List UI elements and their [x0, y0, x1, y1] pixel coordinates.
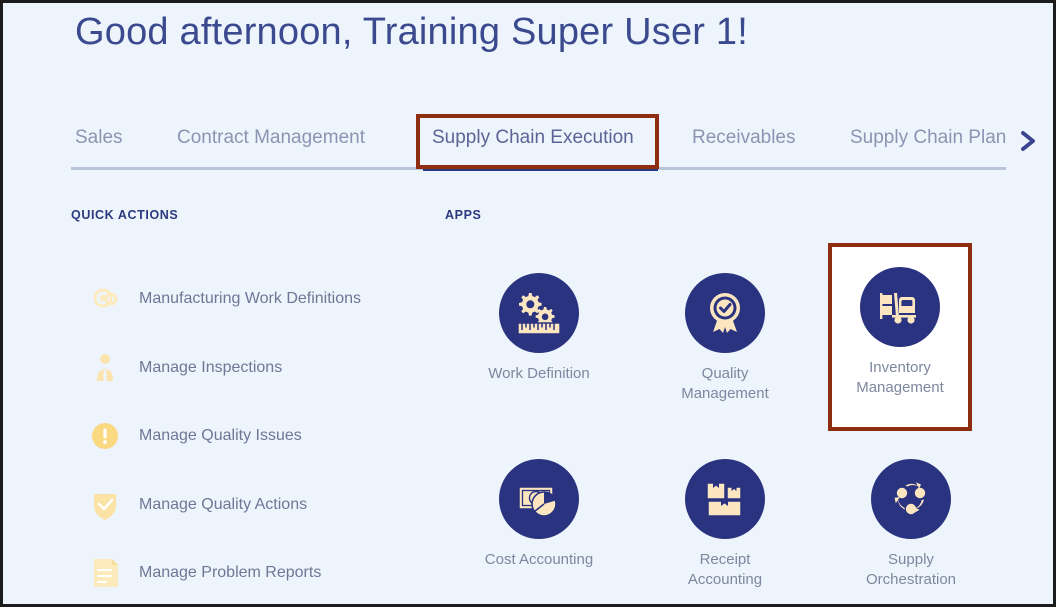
quick-actions-heading: QUICK ACTIONS: [71, 208, 178, 222]
gears-icon: [87, 282, 123, 316]
app-label-line1: Quality: [702, 365, 749, 382]
quick-action-manage-inspections[interactable]: Manage Inspections: [71, 334, 421, 403]
quick-action-label: Manufacturing Work Definitions: [139, 290, 361, 308]
quick-action-label: Manage Problem Reports: [139, 564, 321, 582]
tab-highlight-annotation: [416, 114, 659, 169]
app-label: Inventory Management: [856, 358, 944, 399]
app-label: Receipt Accounting: [688, 550, 762, 591]
tab-supply-chain-plan[interactable]: Supply Chain Plan: [848, 123, 1008, 153]
quick-action-manage-quality-actions[interactable]: Manage Quality Actions: [71, 471, 421, 540]
quick-action-label: Manage Quality Issues: [139, 427, 302, 445]
gears-ruler-icon: [499, 273, 579, 353]
tab-receivables[interactable]: Receivables: [690, 123, 798, 153]
quick-action-manage-quality-issues[interactable]: Manage Quality Issues: [71, 402, 421, 471]
app-label: Quality Management: [681, 364, 769, 405]
app-tile-work-definition[interactable]: Work Definition: [446, 265, 632, 451]
app-label-line2: Accounting: [688, 571, 762, 588]
app-label-line1: Receipt: [700, 551, 751, 568]
app-label: Cost Accounting: [485, 550, 593, 570]
app-label: Work Definition: [488, 364, 589, 384]
shield-check-icon: [87, 488, 123, 522]
app-tile-quality-management[interactable]: Quality Management: [632, 265, 818, 451]
quick-action-label: Manage Quality Actions: [139, 496, 307, 514]
alert-circle-icon: [87, 419, 123, 453]
apps-heading: APPS: [445, 208, 481, 222]
tab-contract-management[interactable]: Contract Management: [175, 123, 367, 153]
app-tile-cost-accounting[interactable]: Cost Accounting: [446, 451, 632, 607]
cycle-arrows-icon: [871, 459, 951, 539]
app-label-line2: Orchestration: [866, 571, 956, 588]
banknote-piechart-icon: [499, 459, 579, 539]
app-label-line2: Management: [681, 385, 769, 402]
app-label-line1: Supply: [888, 551, 934, 568]
app-label: Supply Orchestration: [866, 550, 956, 591]
app-tile-supply-orchestration[interactable]: Supply Orchestration: [818, 451, 1004, 607]
quick-actions-list: Manufacturing Work Definitions Manage In…: [71, 265, 421, 607]
forklift-icon: [860, 267, 940, 347]
app-tile-inventory-management[interactable]: Inventory Management: [832, 247, 968, 427]
quick-action-manage-problem-reports[interactable]: Manage Problem Reports: [71, 539, 421, 607]
chevron-right-icon[interactable]: [1015, 127, 1041, 155]
page-title: Good afternoon, Training Super User 1!: [75, 11, 748, 54]
tab-sales[interactable]: Sales: [73, 123, 125, 153]
app-label-line1: Inventory: [869, 359, 931, 376]
document-report-icon: [87, 556, 123, 590]
award-ribbon-icon: [685, 273, 765, 353]
quick-action-manufacturing-work-definitions[interactable]: Manufacturing Work Definitions: [71, 265, 421, 334]
home-page-screen: Good afternoon, Training Super User 1! S…: [0, 0, 1056, 607]
quick-action-label: Manage Inspections: [139, 359, 282, 377]
stacked-boxes-icon: [685, 459, 765, 539]
inspection-person-icon: [87, 351, 123, 385]
app-tile-receipt-accounting[interactable]: Receipt Accounting: [632, 451, 818, 607]
app-label-line2: Management: [856, 379, 944, 396]
